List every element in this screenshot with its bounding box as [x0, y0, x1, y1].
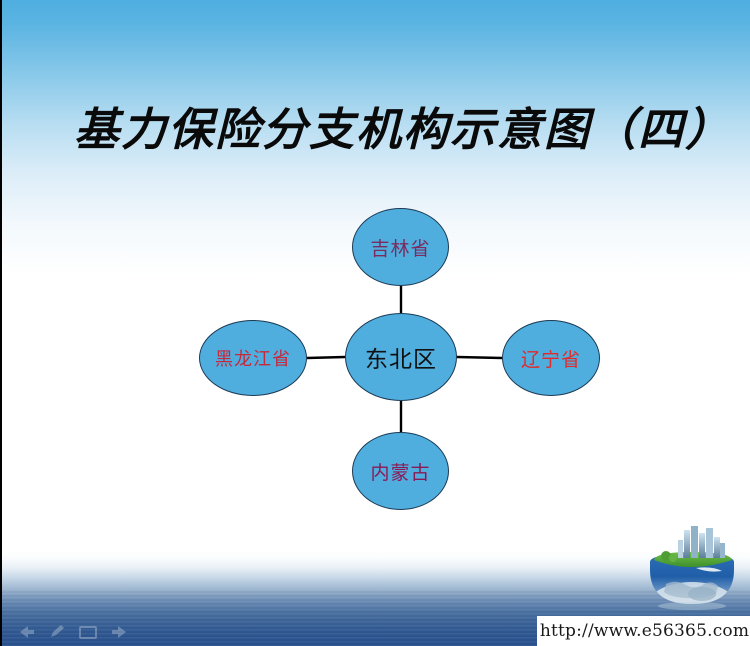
diagram-node-neimenggu[interactable]: 内蒙古 [352, 432, 449, 510]
watermark-url-text: http://www.e56365.com [540, 621, 749, 641]
globe-city-logo-icon [640, 524, 744, 610]
back-arrow-icon[interactable] [16, 624, 36, 640]
edge-center-left [307, 357, 345, 358]
forward-arrow-icon[interactable] [110, 624, 130, 640]
slideshow-nav-controls[interactable] [16, 624, 130, 640]
diagram-node-heilongjiang[interactable]: 黑龙江省 [199, 320, 307, 396]
diagram-node-jilin[interactable]: 吉林省 [352, 208, 449, 286]
slide-icon[interactable] [78, 624, 98, 640]
presentation-slide: 基力保险分支机构示意图（四） 吉林省 黑龙江省 东北区 辽宁省 内蒙古 [0, 0, 750, 646]
watermark-url-box: http://www.e56365.com [537, 616, 750, 646]
org-diagram: 吉林省 黑龙江省 东北区 辽宁省 内蒙古 [2, 0, 750, 646]
diagram-node-dongbeiqu[interactable]: 东北区 [345, 313, 457, 401]
edge-center-right [457, 357, 502, 358]
pen-icon[interactable] [48, 624, 66, 640]
diagram-node-liaoning[interactable]: 辽宁省 [502, 320, 600, 396]
